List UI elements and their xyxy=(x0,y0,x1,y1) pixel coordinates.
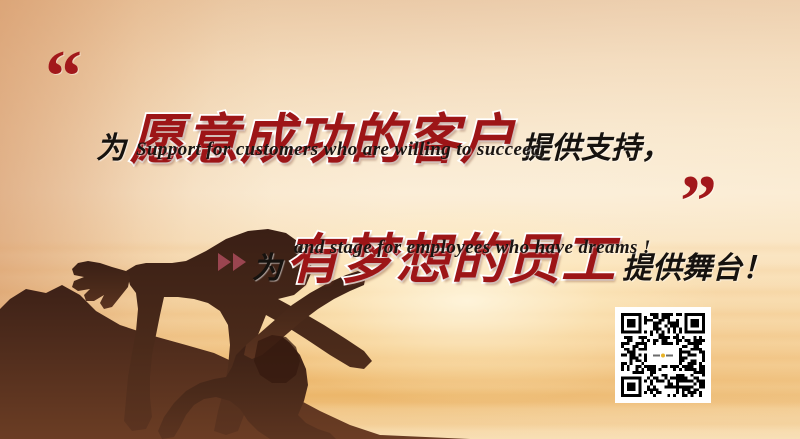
line1-english-subtitle: Support for customers who are willing to… xyxy=(136,140,546,159)
line1-prefix-text: 为 xyxy=(96,134,126,164)
promo-banner: “ 为 愿意成功的客户 提供支持， Support for customers … xyxy=(0,0,800,439)
double-arrow-icon xyxy=(218,253,246,271)
closing-quote-mark: ” xyxy=(680,165,715,239)
qr-center-logo xyxy=(648,347,678,364)
line2-prefix-text: 为 xyxy=(252,254,282,284)
qr-code[interactable] xyxy=(615,307,711,403)
qr-code-matrix xyxy=(621,313,705,397)
line2-english-subtitle: and stage for employees who have dreams … xyxy=(294,238,651,257)
line2-suffix-text: 提供舞台！ xyxy=(622,254,772,284)
opening-quote-mark: “ xyxy=(45,40,80,114)
